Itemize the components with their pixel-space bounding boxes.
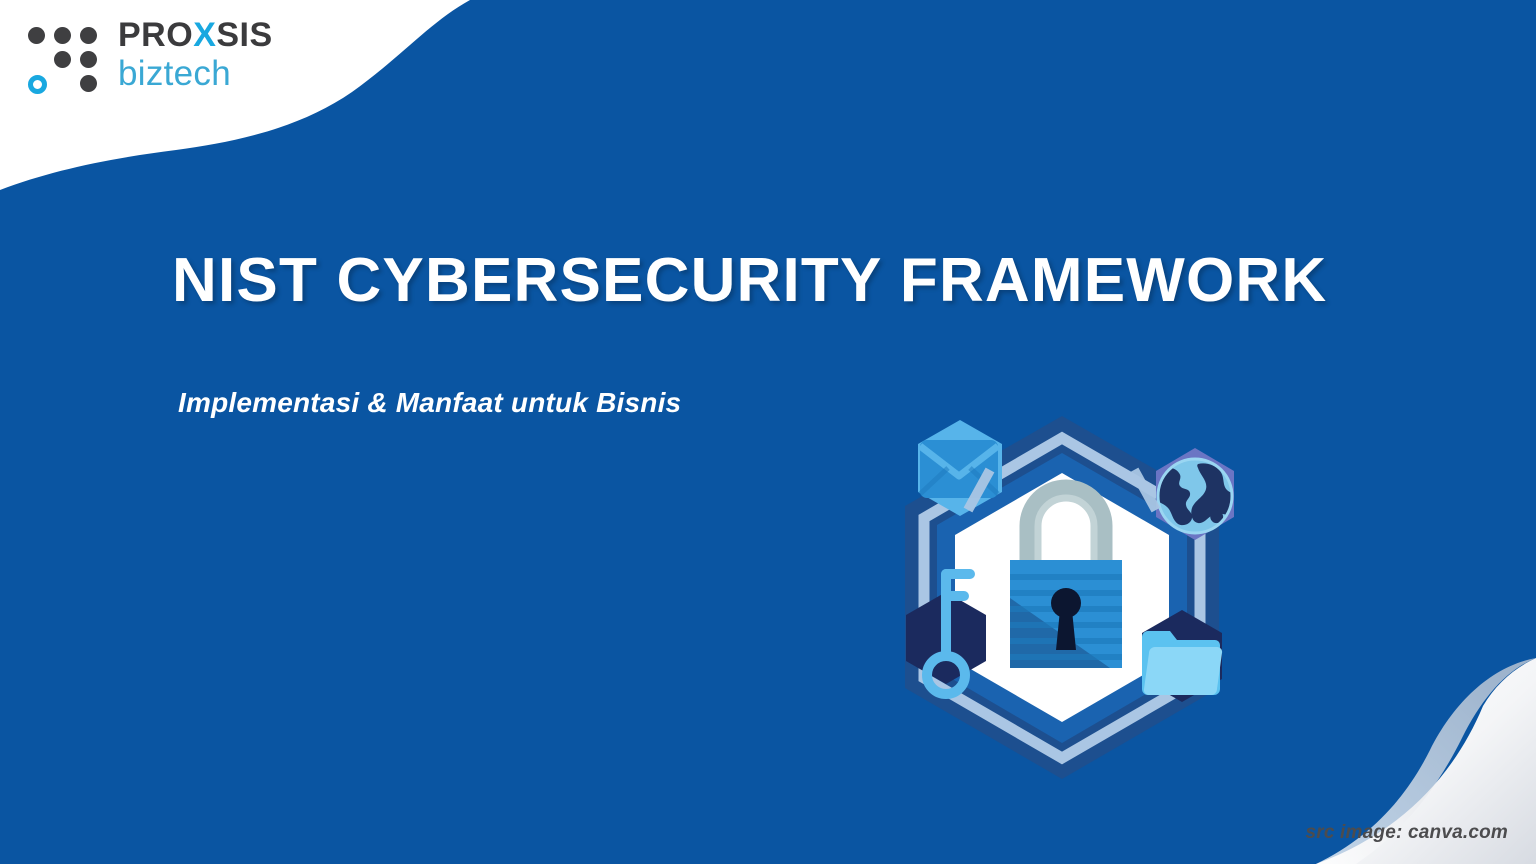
logo-proxsis-sis: SIS [216, 16, 272, 54]
logo-proxsis-text: PROXSIS [118, 18, 273, 52]
page-title: NIST CYBERSECURITY FRAMEWORK [172, 248, 1402, 313]
headline-block: NIST CYBERSECURITY FRAMEWORK [172, 248, 1402, 313]
slide-canvas: PROXSIS biztech NIST CYBERSECURITY FRAME… [0, 0, 1536, 864]
logo-dot-grid-icon [28, 19, 104, 91]
logo-dot-ring [28, 75, 47, 94]
logo-dot [54, 51, 71, 68]
logo-dot [28, 27, 45, 44]
brand-logo[interactable]: PROXSIS biztech [28, 18, 273, 91]
logo-dot [80, 27, 97, 44]
logo-dot [80, 75, 97, 92]
logo-dot [54, 27, 71, 44]
cybersecurity-illustration [862, 398, 1262, 798]
source-credit: src image: canva.com [1305, 822, 1508, 844]
logo-proxsis-pro: PRO [118, 16, 193, 54]
folder-icon [1142, 631, 1222, 695]
page-subtitle: Implementasi & Manfaat untuk Bisnis [178, 387, 681, 419]
logo-dot [80, 51, 97, 68]
logo-wordmark: PROXSIS biztech [118, 18, 273, 91]
logo-proxsis-x: X [193, 16, 216, 54]
logo-biztech-text: biztech [118, 56, 273, 91]
